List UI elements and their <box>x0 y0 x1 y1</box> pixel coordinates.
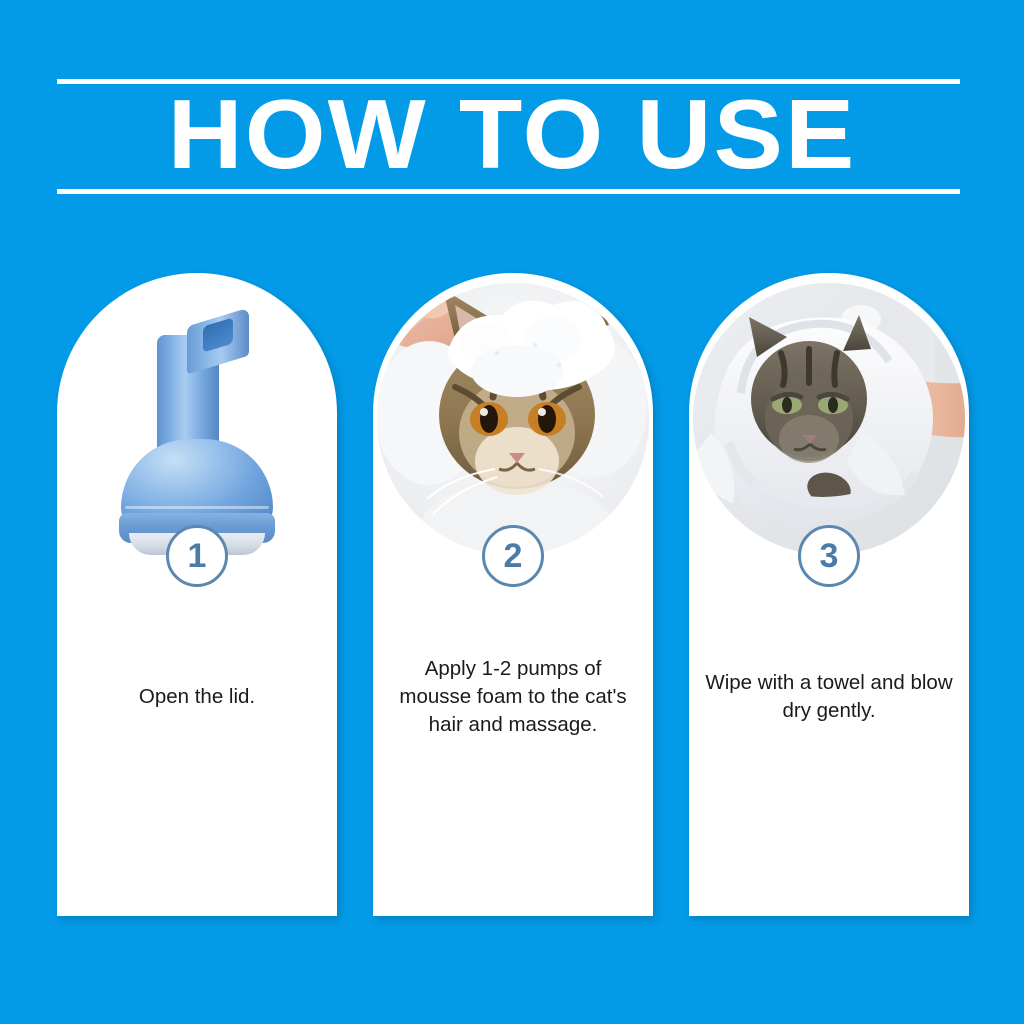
step-caption-1: Open the lid. <box>71 683 323 711</box>
how-to-use-infographic: HOW TO USE 1 Open the lid. <box>0 0 1024 1024</box>
page-title: HOW TO USE <box>0 84 1024 184</box>
step-caption-2: Apply 1-2 pumps of mousse foam to the ca… <box>387 655 639 739</box>
step-card-3: 3 Wipe with a towel and blow dry gently. <box>689 273 969 916</box>
step-number-badge-3: 3 <box>798 525 860 587</box>
step-number-badge-1: 1 <box>166 525 228 587</box>
step-number-badge-2: 2 <box>482 525 544 587</box>
step-card-1: 1 Open the lid. <box>57 273 337 916</box>
kitten-with-foam-photo <box>377 283 649 555</box>
step-card-2: 2 Apply 1-2 pumps of mousse foam to the … <box>373 273 653 916</box>
foam-pump-lid-icon <box>117 317 277 552</box>
title-rule-bottom <box>57 189 960 194</box>
step-caption-3: Wipe with a towel and blow dry gently. <box>703 669 955 725</box>
steps-container: 1 Open the lid. <box>57 273 969 918</box>
cat-wrapped-in-towel-photo <box>693 283 965 555</box>
